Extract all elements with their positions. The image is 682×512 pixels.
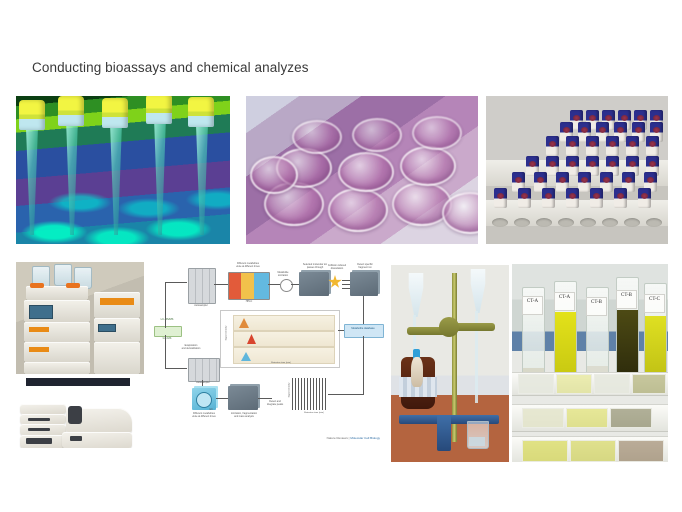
tube-label: CT-C: [644, 294, 665, 313]
image-test-tubes-extracts: CT-A CT-A CT-B CT-B CT-C: [512, 264, 668, 462]
diagram-credit: Nature Reviews | Molecular Cell Biology: [327, 436, 380, 440]
image-lcms-instrument: [8, 378, 138, 448]
tube-label: CT-B: [616, 290, 637, 309]
tube-label: CT-B: [586, 297, 607, 316]
image-metabolomics-workflow-diagram: LC-MS/MS GC-MS Autosampler Different met…: [152, 262, 384, 442]
image-separatory-funnel-apparatus: [391, 265, 509, 462]
tube-label: CT-A: [522, 296, 543, 315]
tube-label: CT-A: [554, 292, 575, 311]
image-pipette-tips-microplate: [16, 96, 230, 244]
image-hplc-vials-rack: [486, 96, 668, 244]
page-title: Conducting bioassays and chemical analyz…: [32, 60, 592, 75]
slide-canvas: Conducting bioassays and chemical analyz…: [0, 0, 682, 512]
image-microplate-wells-purple: [246, 96, 478, 244]
image-hplc-system: [16, 262, 144, 374]
